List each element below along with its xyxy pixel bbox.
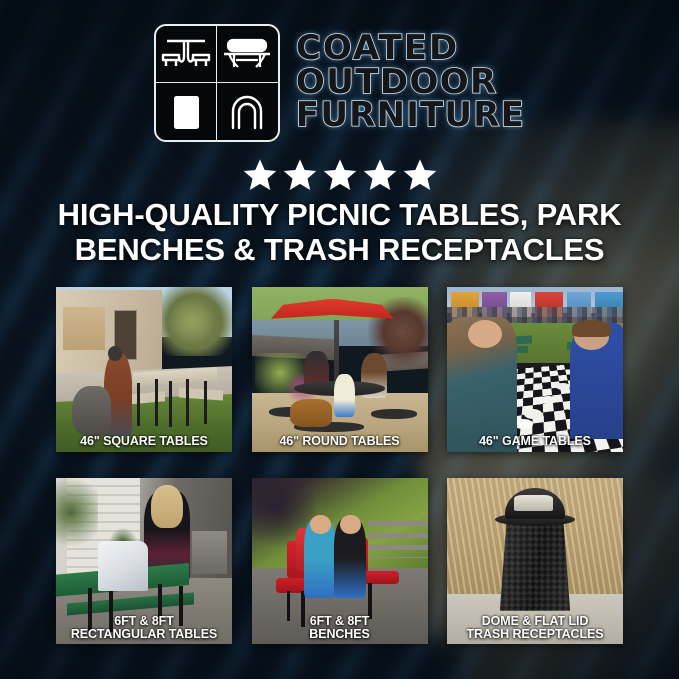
caption-line: 6FT & 8FT — [255, 615, 425, 628]
caption-line: 46" ROUND TABLES — [255, 435, 425, 448]
round-tables-photo — [252, 287, 428, 452]
caption-line: BENCHES — [255, 628, 425, 641]
square-tables-photo — [56, 287, 232, 452]
caption-line: 46" SQUARE TABLES — [59, 435, 229, 448]
star-rating — [0, 158, 679, 192]
caption-line: 46" GAME TABLES — [450, 435, 620, 448]
tile-caption: 46" ROUND TABLES — [252, 435, 428, 448]
headline-line-1: HIGH-QUALITY PICNIC TABLES, PARK — [30, 198, 649, 233]
star-icon — [283, 158, 317, 192]
logo-wordmark: COATED OUTDOOR FURNITURE — [296, 32, 525, 134]
logo-mark-grid — [154, 24, 280, 142]
gallery-tile-benches[interactable]: 6FT & 8FT BENCHES — [252, 478, 428, 644]
brand-logo: COATED OUTDOOR FURNITURE — [0, 24, 679, 142]
logo-line-3: FURNITURE — [296, 99, 525, 132]
headline: HIGH-QUALITY PICNIC TABLES, PARK BENCHES… — [30, 198, 649, 267]
tile-caption: 46" GAME TABLES — [447, 435, 623, 448]
tile-caption: 6FT & 8FT BENCHES — [252, 615, 428, 641]
banner-content: COATED OUTDOOR FURNITURE HIGH-QUALITY PI… — [0, 0, 679, 679]
tile-caption: DOME & FLAT LID TRASH RECEPTACLES — [447, 615, 623, 641]
gallery-tile-rectangular-tables[interactable]: 6FT & 8FT RECTANGULAR TABLES — [56, 478, 232, 644]
tile-caption: 46" SQUARE TABLES — [56, 435, 232, 448]
star-icon — [363, 158, 397, 192]
square-picnic-table-icon — [156, 26, 217, 83]
logo-line-2: OUTDOOR — [296, 66, 525, 99]
caption-line: 6FT & 8FT — [59, 615, 229, 628]
trash-receptacle-icon — [156, 83, 217, 140]
game-tables-photo — [447, 287, 623, 452]
bike-rack-arch-icon — [217, 83, 278, 140]
caption-line: DOME & FLAT LID — [450, 615, 620, 628]
star-icon — [243, 158, 277, 192]
headline-line-2: BENCHES & TRASH RECEPTACLES — [30, 233, 649, 268]
caption-line: TRASH RECEPTACLES — [450, 628, 620, 641]
star-icon — [403, 158, 437, 192]
gallery-tile-trash-receptacles[interactable]: DOME & FLAT LID TRASH RECEPTACLES — [447, 478, 623, 644]
logo-line-1: COATED — [296, 32, 525, 65]
gallery-tile-round-tables[interactable]: 46" ROUND TABLES — [252, 287, 428, 452]
gallery-tile-square-tables[interactable]: 46" SQUARE TABLES — [56, 287, 232, 452]
park-bench-icon — [217, 26, 278, 83]
tile-caption: 6FT & 8FT RECTANGULAR TABLES — [56, 615, 232, 641]
product-banner: COATED OUTDOOR FURNITURE HIGH-QUALITY PI… — [0, 0, 679, 679]
star-icon — [323, 158, 357, 192]
product-gallery: 46" SQUARE TABLES — [56, 287, 623, 644]
gallery-tile-game-tables[interactable]: 46" GAME TABLES — [447, 287, 623, 452]
caption-line: RECTANGULAR TABLES — [59, 628, 229, 641]
